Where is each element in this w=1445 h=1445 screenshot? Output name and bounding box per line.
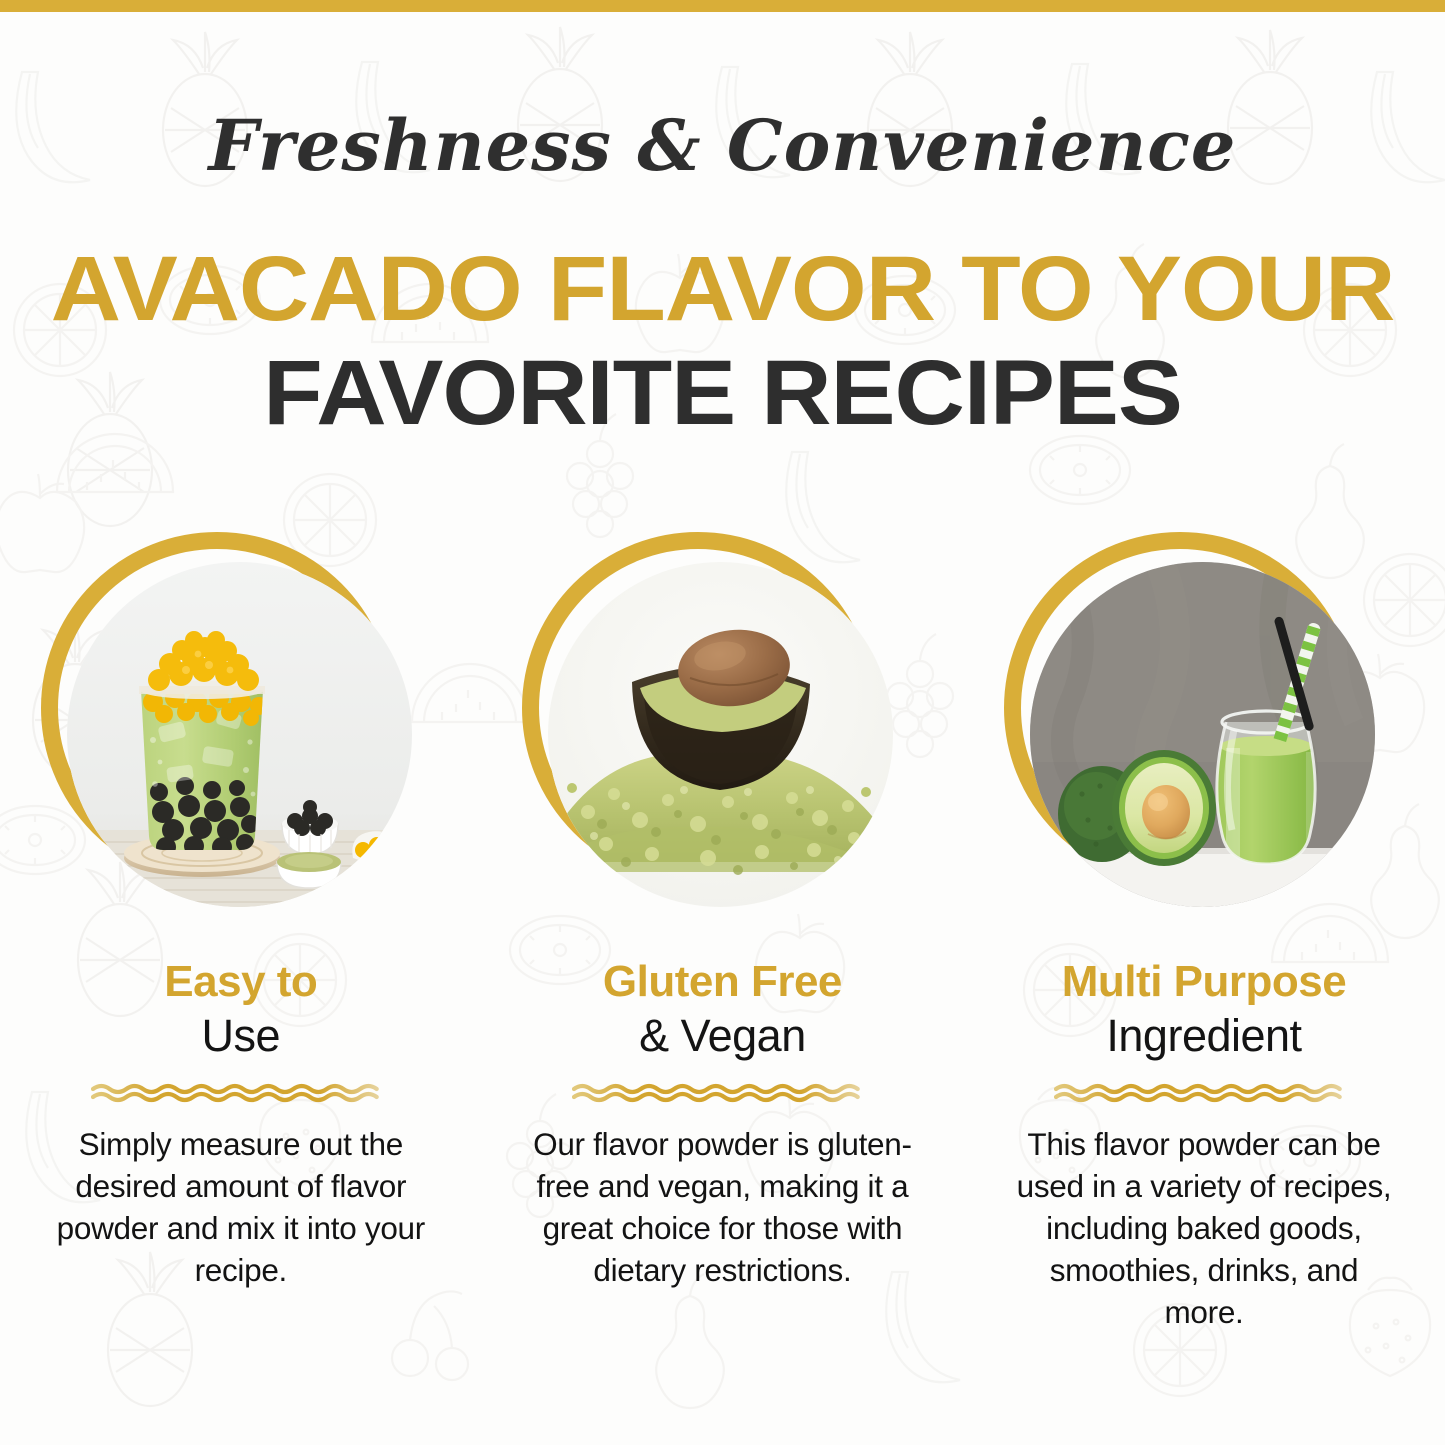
page-headline-line-1: AVACADO FLAVOR TO YOUR (0, 243, 1445, 335)
feature-card-easy-to-use: Easy to Use Simply measure out the desir… (0, 530, 482, 1334)
feature-card-multi-purpose: Multi Purpose Ingredient This flavor pow… (963, 530, 1445, 1334)
feature-image-frame (522, 530, 922, 930)
wavy-divider (572, 1082, 872, 1104)
wavy-divider (1054, 1082, 1354, 1104)
feature-image-frame (41, 530, 441, 930)
feature-title: Gluten Free & Vegan (603, 958, 842, 1060)
avocado-powder-photo (548, 562, 893, 907)
feature-columns: Easy to Use Simply measure out the desir… (0, 530, 1445, 1334)
feature-description: Our flavor powder is gluten-free and veg… (532, 1124, 912, 1292)
feature-title-line-2: Ingredient (1062, 1012, 1346, 1061)
page-headline-line-2: FAVORITE RECIPES (0, 347, 1445, 439)
feature-title-line-1: Easy to (164, 958, 317, 1006)
feature-title-line-2: Use (164, 1012, 317, 1061)
feature-card-gluten-free: Gluten Free & Vegan Our flavor powder is… (482, 530, 964, 1334)
page-eyebrow-title: Freshness & Convenience (0, 104, 1445, 187)
feature-title-line-1: Gluten Free (603, 958, 842, 1006)
feature-description: Simply measure out the desired amount of… (51, 1124, 431, 1292)
wavy-divider (91, 1082, 391, 1104)
feature-description: This flavor powder can be used in a vari… (1014, 1124, 1394, 1333)
feature-image-frame (1004, 530, 1404, 930)
infographic-page: Freshness & Convenience AVACADO FLAVOR T… (0, 0, 1445, 1445)
avocado-smoothie-photo (1030, 562, 1375, 907)
feature-title: Easy to Use (164, 958, 317, 1060)
avocado-bubble-tea-photo (67, 562, 412, 907)
feature-title-line-1: Multi Purpose (1062, 958, 1346, 1006)
feature-title: Multi Purpose Ingredient (1062, 958, 1346, 1060)
top-gold-bar (0, 0, 1445, 12)
feature-title-line-2: & Vegan (603, 1012, 842, 1061)
